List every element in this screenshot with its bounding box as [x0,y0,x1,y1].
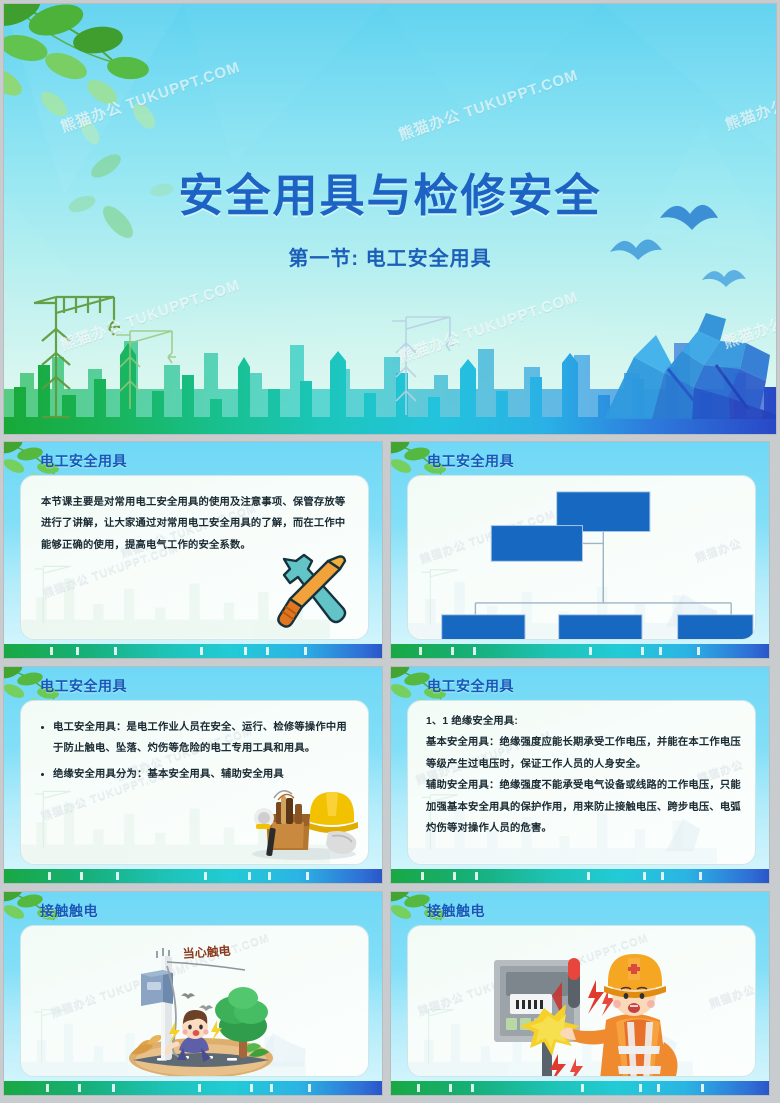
cover-slide[interactable]: 熊猫办公 TUKUPPT.COM 熊猫办公 TUKUPPT.COM 熊猫办公 熊… [3,3,777,435]
watermark: 熊猫办公 [707,981,756,1012]
slide-thumbnail-grid: 电工安全用具 熊猫办公 TUKUPPT.COM 熊猫办公 TUKUPPT.COM… [0,441,780,1103]
toolbelt-and-hardhat-illustration [248,778,360,860]
slide-thumbnail-2[interactable]: 电工安全用具 熊猫办公 TUKUPPT.COM 熊猫办公 [390,441,770,659]
presentation-preview: 熊猫办公 TUKUPPT.COM 熊猫办公 TUKUPPT.COM 熊猫办公 熊… [0,0,780,1102]
slide-title: 接触触电 [40,901,98,921]
slide-content-panel: 熊猫办公 TUKUPPT.COM TUKUPPT.COM 熊猫办公 [407,925,756,1077]
slide-content-panel: 熊猫办公 TUKUPPT.COM 熊猫办公 TUKUPPT.COM 本节课主要是… [20,475,369,640]
slide-row: 电工安全用具 熊猫办公 TUKUPPT.COM 熊猫办公 TUKUPPT.COM… [0,441,780,659]
slide-thumbnail-3[interactable]: 电工安全用具 熊猫办公 TUKUPPT.COM 熊猫办公 TUKUPPT.COM… [3,666,383,884]
slide-row: 接触触电 熊猫办公 TUKUPPT.COM TUKUPPT.COM [0,891,780,1096]
slide-thumbnail-4[interactable]: 电工安全用具 熊猫办公 TUKUPPT.COM 熊猫办公 1、1 绝缘安全用具:… [390,666,770,884]
text-line: 基本安全用具：绝缘强度应能长期承受工作电压，并能在本工作电压等级产生过电压时，保… [426,732,743,775]
cover-title: 安全用具与检修安全 [4,159,776,224]
city-skyline-illustration [4,269,777,434]
slide-text-block: 1、1 绝缘安全用具: 基本安全用具：绝缘强度应能长期承受工作电压，并能在本工作… [426,711,743,839]
slide-title: 接触触电 [427,901,485,921]
slide-content-panel: 熊猫办公 TUKUPPT.COM 熊猫办公 TUKUPPT.COM 电工安全用具… [20,700,369,865]
slide-thumbnail-6[interactable]: 接触触电 熊猫办公 TUKUPPT.COM TUKUPPT.COM 熊猫办公 [390,891,770,1096]
boy-shocked-by-power-pole-illustration: 当心触电 [117,940,277,1077]
slide-footer-bar [391,869,769,883]
slide-title: 电工安全用具 [40,451,127,471]
svg-text:当心触电: 当心触电 [182,943,231,961]
text-line: 辅助安全用具：绝缘强度不能承受电气设备或线路的工作电压，只能加强基本安全用具的保… [426,775,743,839]
wrench-and-screwdriver-illustration [268,551,352,629]
slide-footer-bar [4,644,382,658]
slide-footer-bar [391,644,769,658]
slide-thumbnail-1[interactable]: 电工安全用具 熊猫办公 TUKUPPT.COM 熊猫办公 TUKUPPT.COM… [3,441,383,659]
worker-shocked-by-meter-box-illustration [484,942,694,1077]
text-line: 1、1 绝缘安全用具: [426,711,743,732]
slide-content-panel: 熊猫办公 TUKUPPT.COM 熊猫办公 [407,475,756,640]
slide-title: 电工安全用具 [427,451,514,471]
slide-title: 电工安全用具 [427,676,514,696]
slide-footer-bar [391,1081,769,1095]
slide-paragraph: 本节课主要是对常用电工安全用具的使用及注意事项、保管存放等进行了讲解，让大家通过… [41,492,350,556]
slide-content-panel: 熊猫办公 TUKUPPT.COM TUKUPPT.COM [20,925,369,1077]
slide-footer-bar [4,869,382,883]
slide-row: 电工安全用具 熊猫办公 TUKUPPT.COM 熊猫办公 TUKUPPT.COM… [0,666,780,884]
list-item: 电工安全用具：是电工作业人员在安全、运行、检修等操作中用于防止触电、坠落、灼伤等… [53,717,354,760]
cover-subtitle: 第一节: 电工安全用具 [4,242,776,271]
org-chart-diagram[interactable] [408,476,755,640]
slide-footer-bar [4,1081,382,1095]
slide-title: 电工安全用具 [40,676,127,696]
slide-thumbnail-5[interactable]: 接触触电 熊猫办公 TUKUPPT.COM TUKUPPT.COM [3,891,383,1096]
slide-content-panel: 熊猫办公 TUKUPPT.COM 熊猫办公 1、1 绝缘安全用具: 基本安全用具… [407,700,756,865]
